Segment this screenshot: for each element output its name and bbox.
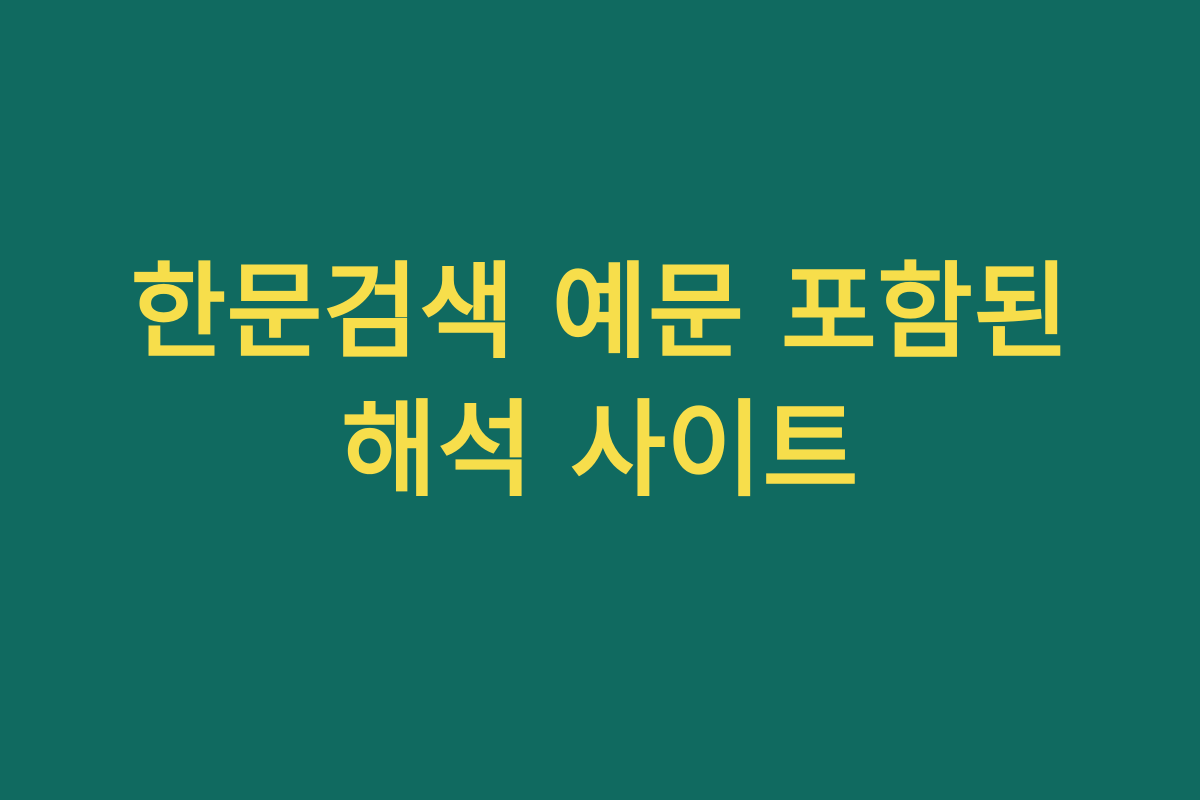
headline-block: 한문검색 예문 포함된 해석 사이트: [50, 243, 1150, 520]
headline-line-1: 한문검색 예문 포함된: [50, 243, 1150, 381]
headline-line-2: 해석 사이트: [50, 381, 1150, 519]
banner-card: 한문검색 예문 포함된 해석 사이트: [0, 0, 1200, 800]
